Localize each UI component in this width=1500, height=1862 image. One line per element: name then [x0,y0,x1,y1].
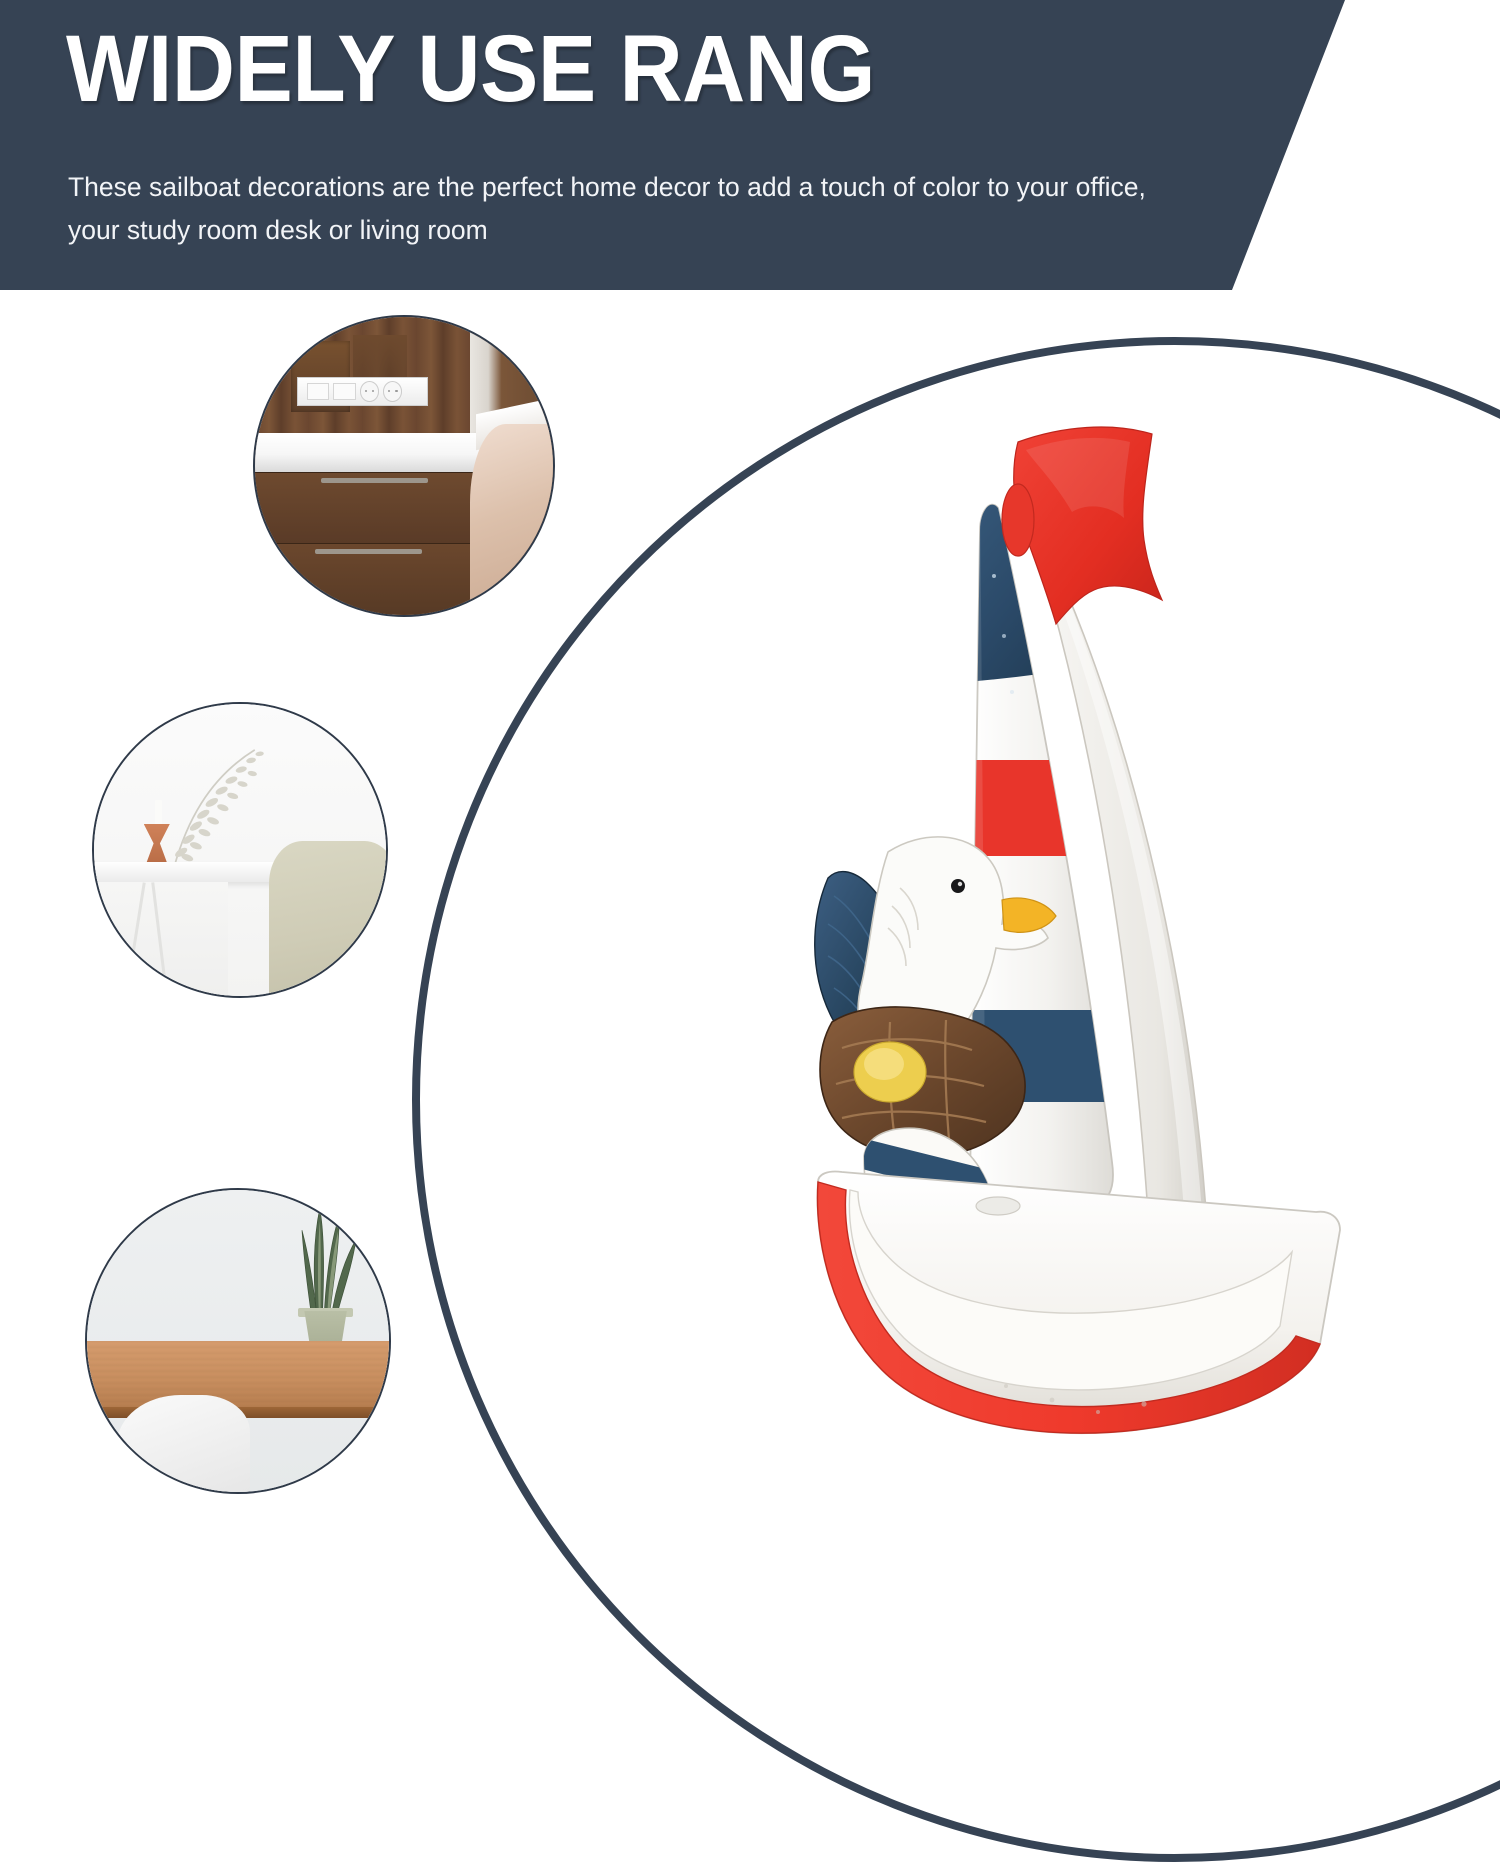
light-switch-icon [307,383,329,399]
seagull-eye [951,879,965,893]
mast-socket [976,1197,1020,1215]
beige-chair [269,841,388,998]
sailboat-decoration [780,400,1400,1460]
thumbnail-wood-desk-plant [85,1188,391,1494]
page-title: WIDELY USE RANG [66,22,875,117]
drawer-handle [315,549,422,554]
power-socket-icon [383,381,402,402]
boat-hull [817,1171,1340,1433]
white-desk-top [92,862,293,882]
dried-branch [164,742,287,873]
power-socket-icon [360,381,379,402]
light-switch-icon [333,383,355,399]
cabinet-drawer-lower [255,543,481,615]
snake-plant-leaves [280,1205,365,1320]
header-banner: WIDELY USE RANG These sailboat decoratio… [0,0,1345,290]
thumbnail-3-scene [87,1190,389,1492]
wood-desk-surface [87,1341,389,1407]
wall-switch-bar [297,377,428,407]
thumbnail-1-scene [255,317,553,615]
pennant-flag [1002,427,1162,624]
thumbnail-white-desk [92,702,388,998]
page-subtitle: These sailboat decorations are the perfe… [68,166,1188,252]
beige-towel [470,424,555,617]
white-chair [117,1395,250,1494]
thumbnail-2-scene [94,704,386,996]
white-countertop [255,433,481,472]
drawer-handle [321,478,428,483]
thumbnail-walnut-cabinet [253,315,555,617]
